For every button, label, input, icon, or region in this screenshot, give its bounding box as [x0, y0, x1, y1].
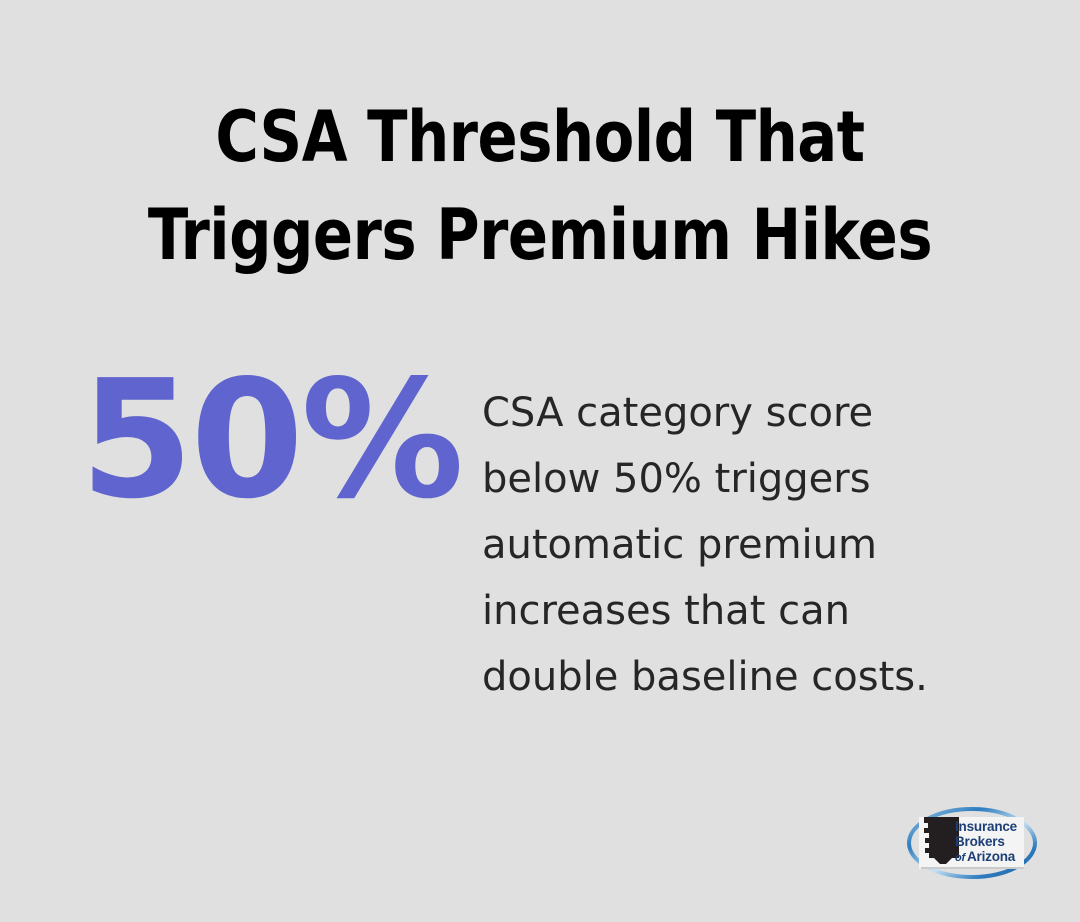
logo-word-of: of [955, 852, 965, 864]
stat-description: CSA category score below 50% triggers au… [482, 380, 982, 710]
page-title: CSA Threshold That Triggers Premium Hike… [0, 88, 1080, 284]
insurance-brokers-of-arizona-logo: Insurance Brokers ofArizona [902, 800, 1042, 886]
arizona-state-icon [924, 817, 959, 864]
logo-wordmark: Insurance Brokers ofArizona [955, 817, 1027, 867]
logo-line-of-arizona: ofArizona [955, 849, 1015, 866]
infographic-canvas: CSA Threshold That Triggers Premium Hike… [0, 0, 1080, 922]
logo-line-insurance: Insurance [955, 819, 1017, 834]
stat-row: 50% CSA category score below 50% trigger… [0, 366, 1080, 706]
page-title-line-1: CSA Threshold That [70, 88, 1010, 186]
page-title-line-2: Triggers Premium Hikes [70, 186, 1010, 284]
logo-plate-shadow [921, 867, 1024, 869]
logo-word-arizona: Arizona [967, 849, 1015, 864]
stat-value: 50% [80, 366, 410, 516]
logo-line-brokers: Brokers [955, 834, 1005, 849]
